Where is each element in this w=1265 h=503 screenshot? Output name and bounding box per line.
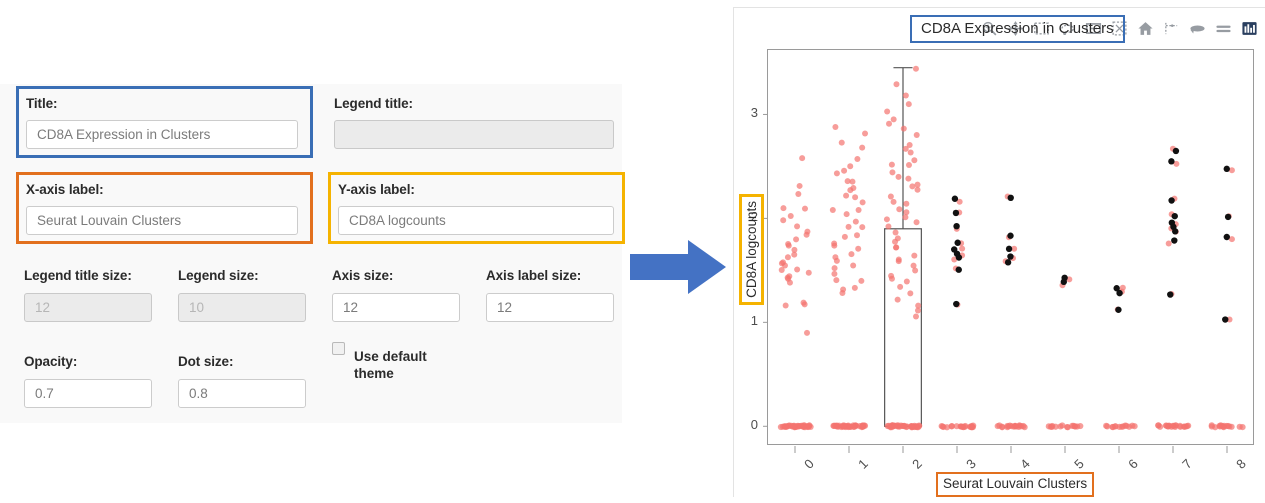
data-point [902,423,908,429]
legend-size-input[interactable] [178,293,306,322]
legend-title-input[interactable] [334,120,614,149]
data-point [1053,424,1059,430]
axis-size-input[interactable] [332,293,460,322]
data-point [1065,424,1071,430]
axis-size-group: Axis size: [332,268,460,322]
data-point [862,130,868,136]
data-point [903,146,909,152]
data-point [915,187,921,193]
data-point [959,246,965,252]
data-point [970,424,976,430]
title-field-group: Title: [26,96,298,149]
data-point [911,157,917,163]
data-point [850,424,856,430]
data-point [804,232,810,238]
y-tick-label: 0 [738,417,758,432]
data-point [952,196,958,202]
data-point [893,230,899,236]
data-point [893,245,899,251]
use-default-theme-checkbox[interactable] [332,342,345,355]
data-point [902,214,908,220]
legend-title-label: Legend title: [334,96,614,111]
data-point [859,145,865,151]
data-point [834,258,840,264]
data-point [911,253,917,259]
data-point [787,280,793,286]
data-point [783,302,789,308]
legend-title-size-group: Legend title size: [24,268,152,322]
data-point [853,219,859,225]
data-point [1173,148,1179,154]
data-point [1155,422,1161,428]
plot-settings-panel: Title: Legend title: X-axis label: Y-axi… [0,84,622,423]
title-label: Title: [26,96,298,111]
data-point [854,232,860,238]
data-point [901,126,907,132]
data-point [953,301,959,307]
data-point [852,285,858,291]
data-point [839,290,845,296]
data-point [908,150,914,156]
opacity-input[interactable] [24,379,152,408]
plot-output-panel: CD8A Expression in Clusters 0123 0123456… [733,7,1265,497]
data-point [795,191,801,197]
data-point [1104,423,1110,429]
data-point [1229,424,1235,430]
x-axis-title-highlight: Seurat Louvain Clusters [936,472,1094,497]
data-point [889,276,895,282]
legend-size-group: Legend size: [178,268,306,322]
data-point [842,234,848,240]
data-point [850,262,856,268]
data-point [905,176,911,182]
data-point [956,254,962,260]
opacity-label: Opacity: [24,354,152,369]
data-point [794,223,800,229]
data-point [797,183,803,189]
data-point [855,246,861,252]
x-axis-label-label: X-axis label: [26,182,298,197]
data-point [1167,291,1173,297]
data-point [1172,213,1178,219]
data-point [854,156,860,162]
data-point [896,258,902,264]
data-point [1006,246,1012,252]
data-point [1008,195,1014,201]
data-point [907,290,913,296]
y-axis-label-label: Y-axis label: [338,182,614,197]
data-point [856,207,862,213]
data-point [906,101,912,107]
data-point [804,330,810,336]
data-point [1113,423,1119,429]
data-point [884,216,890,222]
data-point [914,219,920,225]
data-point [786,243,792,249]
data-point [1115,307,1121,313]
data-point [833,277,839,283]
data-point [1061,279,1067,285]
data-point [847,163,853,169]
data-point [953,223,959,229]
data-point [852,194,858,200]
data-point [1005,259,1011,265]
data-point [903,93,909,99]
axis-ticks [763,114,1227,453]
y-axis-title-highlight: CD8A logcounts [739,194,764,305]
data-point [888,194,894,200]
dot-size-group: Dot size: [178,354,306,408]
legend-title-size-input[interactable] [24,293,152,322]
data-point [1074,423,1080,429]
data-point [849,179,855,185]
data-point [830,207,836,213]
axis-label-size-group: Axis label size: [486,268,614,322]
data-point [841,168,847,174]
data-point [886,121,892,127]
data-point [909,424,915,430]
data-point [1239,424,1245,430]
data-point [859,224,865,230]
data-point [782,423,788,429]
data-point [954,240,960,246]
data-point [831,271,837,277]
data-point [780,205,786,211]
data-point [1221,424,1227,430]
x-axis-label-field-group: X-axis label: [26,182,298,235]
data-point [909,183,915,189]
x-axis-title: Seurat Louvain Clusters [943,476,1087,491]
data-point [788,213,794,219]
opacity-group: Opacity: [24,354,152,408]
data-point [1007,233,1013,239]
flow-arrow-icon [630,238,726,296]
data-point [914,132,920,138]
data-point [893,81,899,87]
axis-size-label: Axis size: [332,268,460,283]
plot-title: CD8A Expression in Clusters [910,15,1125,43]
y-axis-label-input[interactable] [338,206,614,235]
y-tick-label: 3 [738,105,758,120]
data-point [794,267,800,273]
data-point [1224,166,1230,172]
data-point [904,278,910,284]
data-point [1183,423,1189,429]
data-point [889,162,895,168]
data-point [884,109,890,115]
data-point [956,267,962,273]
x-axis-label-input[interactable] [26,206,298,235]
y-axis-label-field-group: Y-axis label: [338,182,614,235]
data-point [954,423,960,429]
data-point [790,423,796,429]
data-point [1171,237,1177,243]
data-point [999,424,1005,430]
plot-canvas [734,8,1265,497]
data-point [831,243,837,249]
data-point [1225,214,1231,220]
data-point [891,199,897,205]
data-point [860,199,866,205]
legend-size-label: Legend size: [178,268,306,283]
data-point [802,301,808,307]
data-point [839,140,845,146]
data-point [885,223,891,229]
data-point [1163,423,1169,429]
data-point [1012,423,1018,429]
data-point [895,297,901,303]
data-point [793,236,799,242]
data-point [785,254,791,260]
data-point [779,260,785,266]
dot-size-input[interactable] [178,379,306,408]
data-point [1122,422,1128,428]
data-point [859,422,865,428]
data-point [891,116,897,122]
data-point [891,423,897,429]
data-point [802,206,808,212]
data-points-layer [778,66,1246,431]
data-point [832,265,838,271]
data-point [913,314,919,320]
data-point [833,423,839,429]
data-point [832,124,838,130]
use-default-theme-group[interactable]: Use default theme [332,342,440,376]
data-point [1020,423,1026,429]
data-point [846,224,852,230]
data-point [906,162,912,168]
data-point [844,211,850,217]
data-point [903,201,909,207]
data-point [779,267,785,273]
axis-label-size-input[interactable] [486,293,614,322]
data-point [847,187,853,193]
data-point [915,182,921,188]
data-point [1224,234,1230,240]
data-point [1046,423,1052,429]
legend-title-field-group: Legend title: [334,96,614,149]
data-point [915,307,921,313]
data-point [940,424,946,430]
data-point [801,423,807,429]
data-point [1007,253,1013,259]
data-point [841,422,847,428]
data-point [1166,241,1172,247]
data-point [1172,228,1178,234]
data-point [903,209,909,215]
y-axis-title: CD8A logcounts [744,201,759,298]
data-point [843,193,849,199]
data-point [916,423,922,429]
legend-title-size-label: Legend title size: [24,268,152,283]
data-point [1222,316,1228,322]
data-point [799,155,805,161]
dot-size-label: Dot size: [178,354,306,369]
y-tick-label: 1 [738,313,758,328]
data-point [1132,423,1138,429]
data-point [1168,197,1174,203]
data-point [834,170,840,176]
data-point [953,210,959,216]
data-point [1116,290,1122,296]
axis-label-size-label: Axis label size: [486,268,614,283]
title-input[interactable] [26,120,298,149]
data-point [889,169,895,175]
data-point [806,270,812,276]
data-point [780,217,786,223]
data-point [913,66,919,72]
data-point [1168,158,1174,164]
data-point [858,278,864,284]
data-point [896,206,902,212]
data-point [912,267,918,273]
data-point [848,251,854,257]
data-point [896,174,902,180]
data-point [892,239,898,245]
data-point [897,284,903,290]
data-point [1209,423,1215,429]
use-default-theme-label: Use default theme [354,349,440,383]
data-point [1170,423,1176,429]
data-point [791,252,797,258]
